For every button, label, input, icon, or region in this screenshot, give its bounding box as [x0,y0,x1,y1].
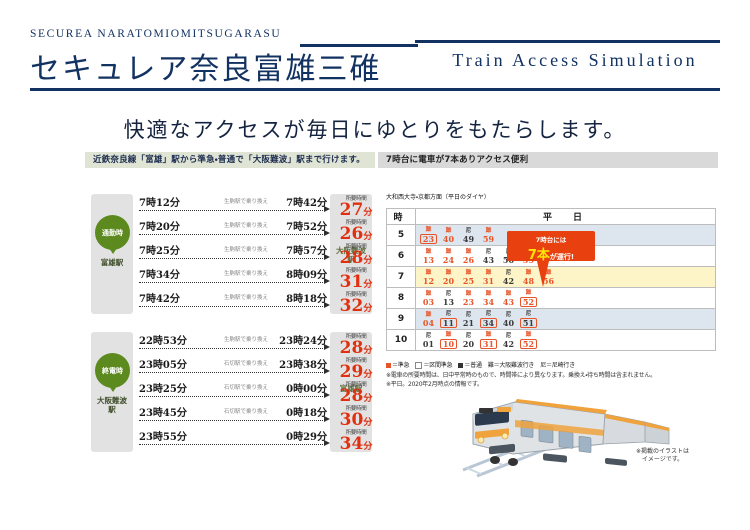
departure-minute: 尼42 [500,269,517,285]
timetable-minutes-cell: 難03尼13難23難34難43難52 [416,288,716,309]
timetable-hour-cell: 6 [387,246,416,267]
trip-row: 7時20分生駒駅で乗り換え7時52分 [139,218,331,242]
trip-arrive-time: 23時38分 [279,356,327,371]
note-line: ※平日。2020年2月時点の情報です。 [386,380,721,389]
time-period-badge: 終電時 [96,354,129,387]
trip-arrow-line [139,210,325,211]
minute-value: 59 [480,235,497,243]
minute-value: 40 [440,235,457,243]
legend-label: ＝準急 [392,362,409,369]
legend-label: ＝区間準急 [423,362,452,369]
trip-arrow-head [324,392,330,398]
timetable: 時 平 日 5難23難40尼49難596難13難24難26尼43尼50難597難… [386,208,716,351]
trip-depart-time: 23時25分 [139,380,187,395]
minute-value: 23 [460,298,477,306]
duration-unit: 分 [363,346,372,356]
departure-minute: 難24 [440,248,457,264]
train-illustration-wrap: ※掲載のイラストはイメージです。 [455,392,720,482]
duration-value: 34分 [332,436,380,456]
minute-value: 26 [460,256,477,264]
trip-arrow-line [139,306,325,307]
trip-arrow-line [139,234,325,235]
trip-transfer-note: 生駒駅で乗り換え [201,197,291,205]
trip-transfer-note: 生駒駅で乗り換え [201,221,291,229]
departure-minute: 難20 [440,269,457,285]
timetable-row: 9難04尼11尼21尼34尼40尼51 [387,309,716,330]
callout-line1: 7時台には [507,231,595,244]
departure-minute: 尼34 [480,310,497,328]
trip-arrow-head [324,368,330,374]
callout-count: 7本 [528,248,550,263]
trip-row: 23時55分0時29分 [139,428,331,452]
minute-value: 42 [500,277,517,285]
minute-value: 04 [420,319,437,327]
departure-minute: 難48 [520,269,537,285]
trip-arrow-line [139,282,325,283]
duration-unit: 分 [363,256,372,266]
timetable-header-row: 時 平 日 [387,209,716,225]
minute-value: 10 [440,339,457,349]
departure-minute: 尼51 [520,310,537,328]
timetable-head: 時 平 日 [387,209,716,225]
timetable-row: 10尼01難10尼20難31尼42難52 [387,330,716,351]
duration-unit: 分 [363,232,372,242]
seven-trains-callout: 7時台には 7本が運行! [507,231,595,261]
legend-item: 難＝大阪難波行き [488,362,534,369]
origin-station-label: 富雄駅 [91,258,133,267]
minute-value: 34 [480,298,497,306]
trip-arrow-head [324,206,330,212]
minute-value: 12 [420,277,437,285]
callout-line2: 7本が運行! [507,244,595,263]
trip-arrow-head [324,278,330,284]
page-header: SECUREA NARATOMIOMITSUGARASU セキュレア奈良富雄三碓… [0,0,750,98]
header-left-title-block: SECUREA NARATOMIOMITSUGARASU セキュレア奈良富雄三碓 [30,28,420,88]
trip-transfer-note: 生駒駅で乗り換え [201,335,291,343]
departure-minute: 難43 [500,290,517,306]
timetable-row: 8難03尼13難23難34難43難52 [387,288,716,309]
time-period-badge: 通勤時 [96,216,129,249]
trip-row: 23時05分石切駅で乗り換え23時38分 [139,356,331,380]
minute-value: 20 [440,277,457,285]
minute-value: 13 [440,298,457,306]
timetable-hour-cell: 9 [387,309,416,330]
departure-minute: 難52 [520,289,537,307]
trip-arrive-time: 7時52分 [286,218,327,233]
departure-minute: 難26 [460,248,477,264]
duration-unit: 分 [363,394,372,404]
page-title: セキュレア奈良富雄三碓 [30,44,420,88]
trip-arrow-head [324,416,330,422]
train-destination-mark: 難 [520,331,537,339]
train-destination-mark: 難 [440,331,457,339]
minute-value: 48 [520,277,537,285]
duration-value: 32分 [332,298,380,318]
legend-swatch [458,363,463,368]
minute-value: 43 [480,256,497,264]
note-line: ※電車の所要時間は、日中平常時のもので、時間帯により異なります。乗換え・待ち時間… [386,371,721,380]
trip-row: 23時25分石切駅で乗り換え0時00分 [139,380,331,404]
illustration-caption: ※掲載のイラストはイメージです。 [615,448,710,464]
trip-depart-time: 7時34分 [139,266,180,281]
origin-station-label: 大阪難波駅 [91,396,133,414]
trip-arrow-head [324,254,330,260]
access-simulation-page: SECUREA NARATOMIOMITSUGARASU セキュレア奈良富雄三碓… [0,0,750,530]
trip-arrow-line [139,348,325,349]
train-destination-mark: 難 [520,289,537,297]
departure-minute: 難31 [480,269,497,285]
timetable-title-sub: （平日のダイヤ） [442,194,490,201]
minute-value: 42 [500,340,517,348]
legend-label: 尼＝尼崎行き [540,362,575,369]
departure-minute: 難12 [420,269,437,285]
timetable-weekday-header: 平 日 [416,209,716,225]
duration-unit: 分 [363,442,372,452]
duration-unit: 分 [363,418,372,428]
minute-value: 01 [420,340,437,348]
timetable-hour-cell: 7 [387,267,416,288]
trip-arrive-time: 8時09分 [286,266,327,281]
minute-value: 11 [440,318,457,328]
trip-row: 7時42分生駒駅で乗り換え8時18分 [139,290,331,314]
minute-value: 51 [520,318,537,328]
minute-value: 21 [460,319,477,327]
departure-minute: 尼11 [440,310,457,328]
minute-value: 43 [500,298,517,306]
timetable-minutes-cell: 難12難20難25難31尼42難48難56 [416,267,716,288]
legend-label: ＝普通 [464,362,481,369]
departure-minute: 難04 [420,311,437,327]
trip-arrow-line [139,420,325,421]
trip-arrive-time: 23時24分 [279,332,327,347]
minute-value: 23 [420,234,437,244]
trip-transfer-note: 石切駅で乗り換え [201,359,291,367]
minute-value: 52 [520,339,537,349]
departure-minute: 尼43 [480,248,497,264]
trip-depart-time: 7時20分 [139,218,180,233]
train-destination-mark: 難 [480,331,497,339]
departure-minute: 尼42 [500,332,517,348]
departure-minute: 難52 [520,331,537,349]
departure-minute: 難31 [480,331,497,349]
minute-value: 20 [460,340,477,348]
trip-arrow-line [139,396,325,397]
header-top-rule [415,40,720,43]
right-section-bar: 7時台に電車が7本ありアクセス便利 [378,152,718,168]
trip-duration: 所要時間32分 [332,290,380,318]
legend-label: 難＝大阪難波行き [488,362,534,369]
train-destination-mark: 難 [420,226,437,234]
trip-arrive-time: 0時00分 [286,380,327,395]
trip-arrive-time: 8時18分 [286,290,327,305]
departure-minute: 尼49 [460,227,477,243]
trip-arrive-time: 7時57分 [286,242,327,257]
origin-station-box: 終電時大阪難波駅 [91,332,133,452]
departure-minute: 難23 [420,226,437,244]
departure-minute: 難23 [460,290,477,306]
trip-arrive-time: 0時18分 [286,404,327,419]
timetable-hour-cell: 8 [387,288,416,309]
departure-minute: 難59 [480,227,497,243]
minute-value: 13 [420,256,437,264]
train-destination-mark: 尼 [440,310,457,318]
catch-copy: 快適なアクセスが毎日にゆとりをもたらします。 [0,114,750,144]
trip-row: 22時53分生駒駅で乗り換え23時24分 [139,332,331,356]
departure-minute: 難40 [440,227,457,243]
timetable-notes: ※電車の所要時間は、日中平常時のもので、時間帯により異なります。乗換え・待ち時間… [386,371,721,389]
trip-row: 7時12分生駒駅で乗り換え7時42分 [139,194,331,218]
trip-depart-time: 7時12分 [139,194,180,209]
timetable-legend: ＝準急＝区間準急＝普通難＝大阪難波行き尼＝尼崎行き [386,360,721,369]
legend-swatch [386,363,391,368]
train-destination-mark: 尼 [520,310,537,318]
minute-value: 24 [440,256,457,264]
trip-arrow-head [324,230,330,236]
timetable-hour-cell: 10 [387,330,416,351]
duration-unit: 分 [363,370,372,380]
departure-minute: 尼13 [440,290,457,306]
minute-value: 31 [480,277,497,285]
legend-item: 尼＝尼崎行き [540,362,575,369]
duration-unit: 分 [363,208,372,218]
minute-value: 40 [500,319,517,327]
roman-title: SECUREA NARATOMIOMITSUGARASU [30,28,420,40]
callout-suffix: が運行! [550,253,574,261]
minute-value: 49 [460,235,477,243]
duration-unit: 分 [363,304,372,314]
trip-depart-time: 7時42分 [139,290,180,305]
roman-title-rule [300,44,418,47]
trip-depart-time: 23時45分 [139,404,187,419]
trip-row: 7時25分生駒駅で乗り換え7時57分 [139,242,331,266]
header-bottom-rule [30,88,720,91]
trip-arrow-line [139,258,325,259]
trip-row: 23時45分石切駅で乗り換え0時18分 [139,404,331,428]
departure-minute: 難03 [420,290,437,306]
trip-arrow-head [324,344,330,350]
trip-transfer-note: 生駒駅で乗り換え [201,293,291,301]
timetable-row: 7難12難20難25難31尼42難48難56 [387,267,716,288]
departure-minute: 難25 [460,269,477,285]
legend-swatch [415,362,422,369]
header-subtitle: Train Access Simulation [430,50,720,71]
trip-transfer-note: 生駒駅で乗り換え [201,269,291,277]
minute-value: 31 [480,339,497,349]
duration-unit: 分 [363,280,372,290]
origin-station-box: 通勤時富雄駅 [91,194,133,314]
timetable-title-main: 大和西大寺・京都方面 [386,194,442,201]
minute-value: 52 [520,297,537,307]
minute-value: 25 [460,277,477,285]
trip-depart-time: 22時53分 [139,332,187,347]
timetable-title: 大和西大寺・京都方面（平日のダイヤ） [386,192,490,202]
legend-item: ＝準急 [386,362,409,369]
trip-transfer-note: 生駒駅で乗り換え [201,245,291,253]
trip-arrive-time: 7時42分 [286,194,327,209]
trip-depart-time: 23時55分 [139,428,187,443]
trip-arrow-line [139,372,325,373]
timetable-minutes-cell: 難04尼11尼21尼34尼40尼51 [416,309,716,330]
train-illustration [455,392,720,482]
left-section-bar: 近鉄奈良線「富雄」駅から準急・普通で「大阪難波」駅まで行けます。 [85,152,375,168]
trip-row: 7時34分生駒駅で乗り換え8時09分 [139,266,331,290]
departure-minute: 難13 [420,248,437,264]
trip-arrow-head [324,440,330,446]
trip-arrive-time: 0時29分 [286,428,327,443]
minute-value: 03 [420,298,437,306]
departure-minute: 尼21 [460,311,477,327]
departure-minute: 尼40 [500,311,517,327]
trip-transfer-note: 石切駅で乗り換え [201,407,291,415]
legend-item: ＝普通 [458,362,481,369]
departure-minute: 難34 [480,290,497,306]
timetable-minutes-cell: 尼01難10尼20難31尼42難52 [416,330,716,351]
departure-minute: 尼01 [420,332,437,348]
timetable-hour-cell: 5 [387,225,416,246]
minute-value: 34 [480,318,497,328]
departure-minute: 尼20 [460,332,477,348]
legend-item: ＝区間準急 [415,362,452,369]
trip-depart-time: 7時25分 [139,242,180,257]
trip-transfer-note: 石切駅で乗り換え [201,383,291,391]
trip-depart-time: 23時05分 [139,356,187,371]
trip-arrow-head [324,302,330,308]
train-destination-mark: 尼 [480,310,497,318]
trip-duration: 所要時間34分 [332,428,380,456]
timetable-hour-header: 時 [387,209,416,225]
departure-minute: 難10 [440,331,457,349]
trip-arrow-line [139,444,325,445]
